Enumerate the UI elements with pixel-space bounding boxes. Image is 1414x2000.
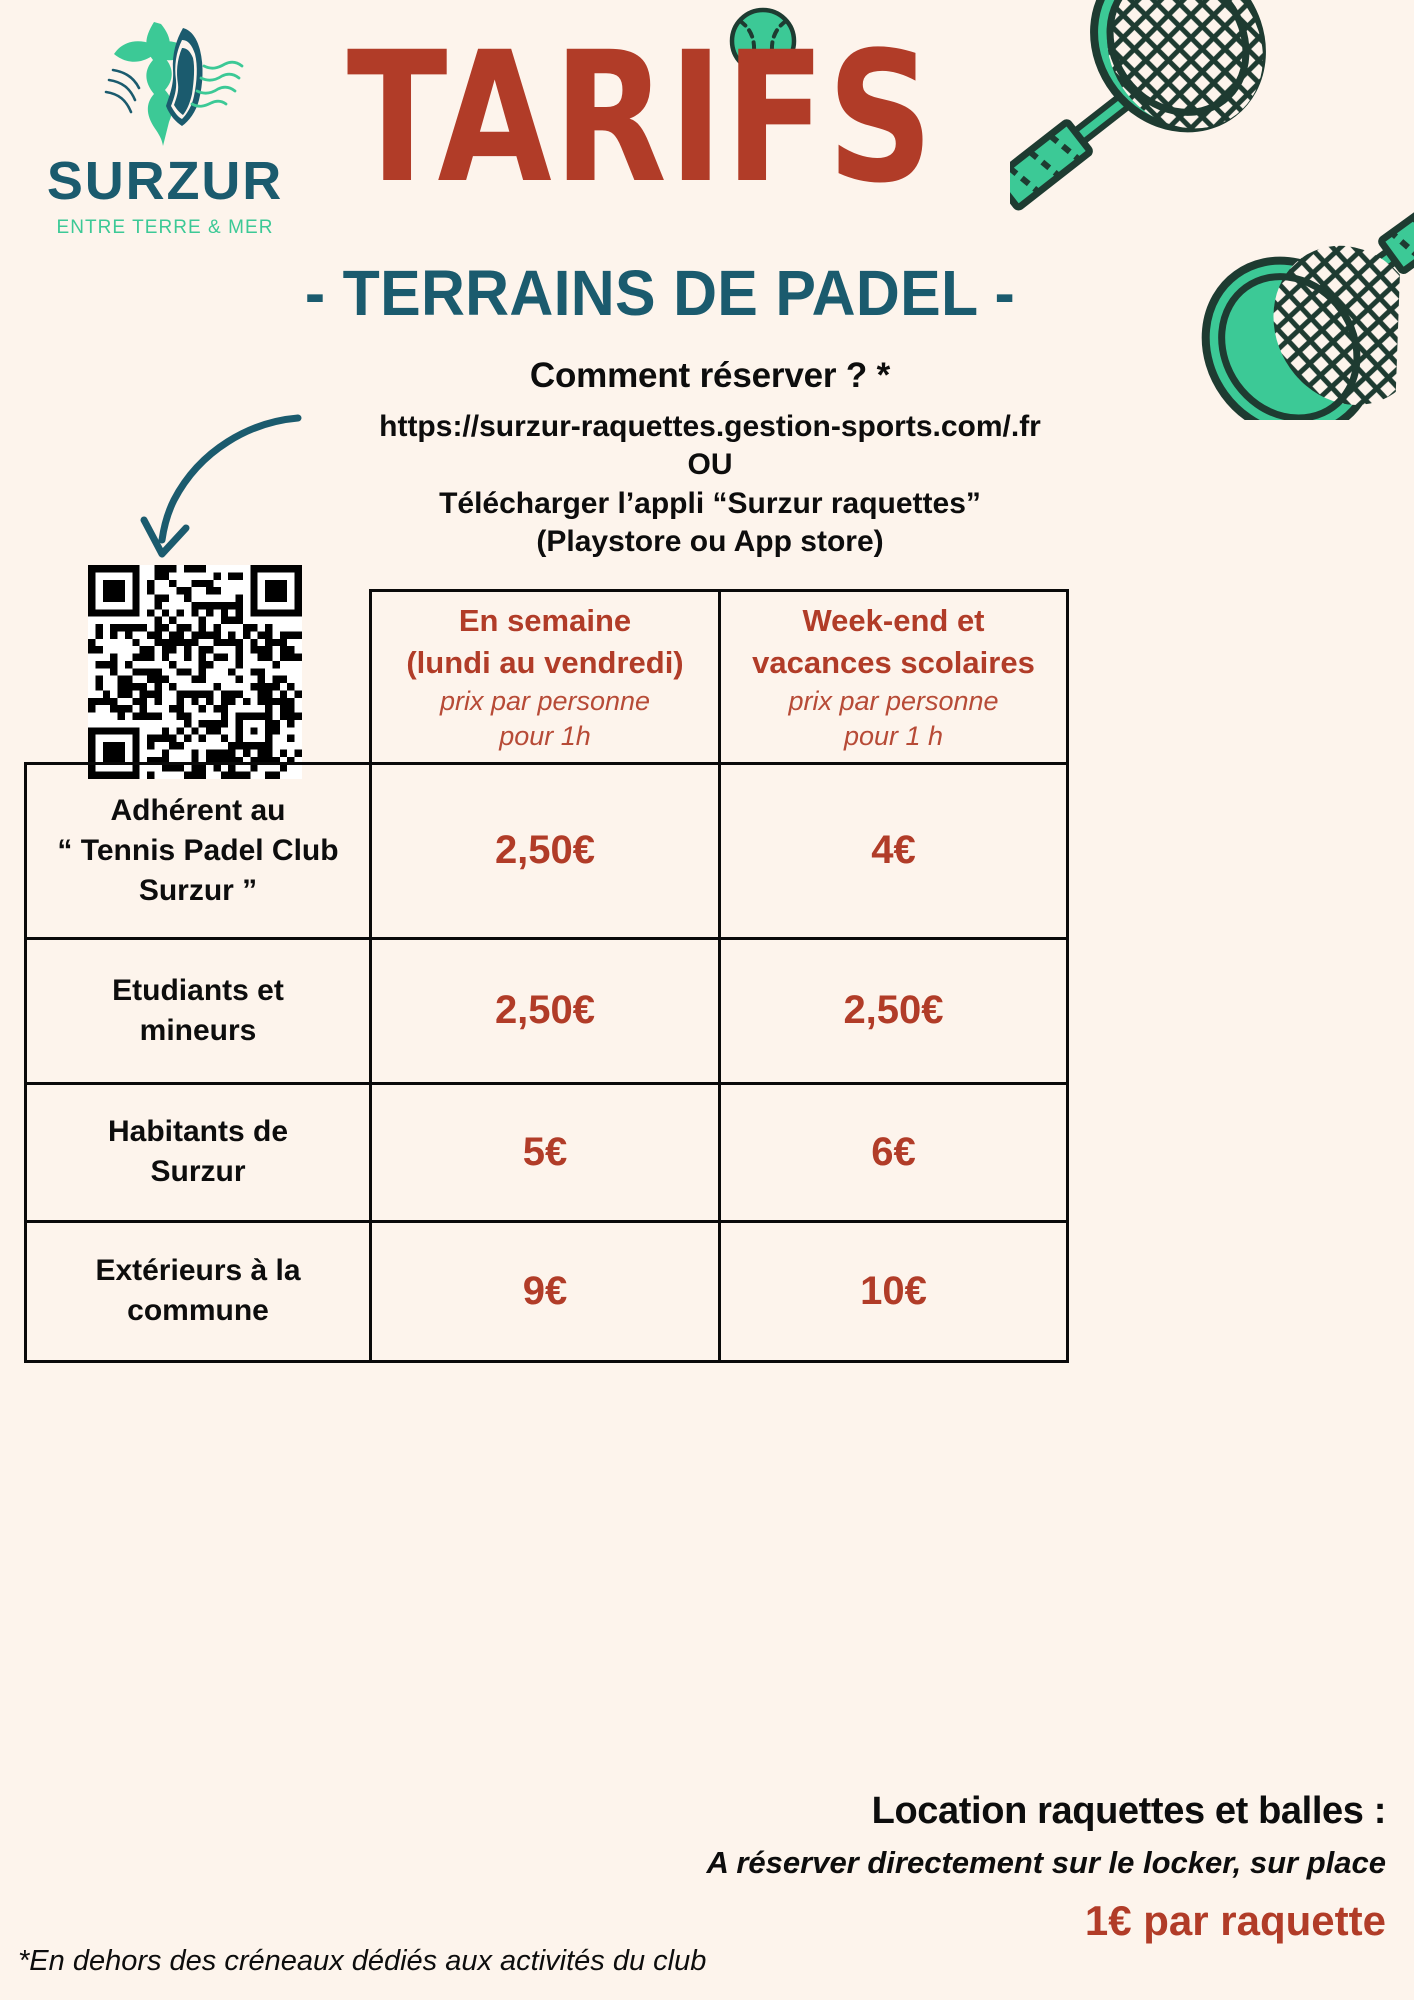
table-row: Habitants de Surzur 5€ 6€: [26, 1083, 1068, 1221]
price-adherent-weekday: 2,50€: [371, 763, 720, 938]
brand-name: SURZUR: [20, 154, 310, 208]
rental-title: Location raquettes et balles :: [386, 1790, 1386, 1833]
rental-price: 1€ par raquette: [386, 1897, 1386, 1945]
brand-tagline: ENTRE TERRE & MER: [20, 217, 310, 239]
header-weekend-sub2: pour 1 h: [731, 719, 1056, 754]
price-etudiants-weekday: 2,50€: [371, 938, 720, 1083]
row-label-adherent: Adhérent au “ Tennis Padel Club Surzur ”: [26, 763, 371, 938]
surzur-island-leaf-logo-icon: [70, 18, 260, 150]
price-adherent-weekend: 4€: [720, 763, 1068, 938]
page-subtitle: - TERRAINS DE PADEL -: [90, 256, 1230, 330]
booking-question: Comment réserver ? *: [180, 356, 1240, 396]
table-header-row: En semaine (lundi au vendredi) prix par …: [26, 591, 1068, 764]
row-label-line2: commune: [37, 1291, 359, 1331]
booking-app-line: Télécharger l’appli “Surzur raquettes”: [180, 485, 1240, 523]
price-table: En semaine (lundi au vendredi) prix par …: [24, 589, 1069, 1363]
header-weekday-line1: En semaine: [382, 600, 708, 642]
row-label-line1: Habitants de: [37, 1112, 359, 1152]
table-row: Etudiants et mineurs 2,50€ 2,50€: [26, 938, 1068, 1083]
row-label-habitants: Habitants de Surzur: [26, 1083, 371, 1221]
row-label-line1: Extérieurs à la: [37, 1251, 359, 1291]
header-weekday-sub1: prix par personne: [382, 684, 708, 719]
header-weekday-line2: (lundi au vendredi): [382, 642, 708, 684]
price-exterieurs-weekday: 9€: [371, 1221, 720, 1361]
table-row: Extérieurs à la commune 9€ 10€: [26, 1221, 1068, 1361]
padel-racket-icon: [1010, 0, 1310, 270]
row-label-line2: mineurs: [37, 1011, 359, 1051]
row-label-line1: Adhérent au: [37, 791, 359, 831]
row-label-line2: “ Tennis Padel Club: [37, 831, 359, 871]
header-weekday-sub2: pour 1h: [382, 719, 708, 754]
table-row: Adhérent au “ Tennis Padel Club Surzur ”…: [26, 763, 1068, 938]
table-corner-cell: [26, 591, 371, 764]
row-label-exterieurs: Extérieurs à la commune: [26, 1221, 371, 1361]
header-weekend-line2: vacances scolaires: [731, 642, 1056, 684]
booking-url[interactable]: https://surzur-raquettes.gestion-sports.…: [180, 408, 1240, 446]
booking-or-separator: OU: [180, 446, 1240, 484]
row-label-line2: Surzur: [37, 1152, 359, 1192]
header-weekend-sub1: prix par personne: [731, 684, 1056, 719]
row-label-line1: Etudiants et: [37, 971, 359, 1011]
disclaimer-text: *En dehors des créneaux dédiés aux activ…: [18, 1945, 706, 1978]
booking-instructions: Comment réserver ? * https://surzur-raqu…: [180, 356, 1240, 562]
rental-subtitle: A réserver directement sur le locker, su…: [386, 1845, 1386, 1881]
table-header-weekday: En semaine (lundi au vendredi) prix par …: [371, 591, 720, 764]
surzur-logo: SURZUR ENTRE TERRE & MER: [20, 18, 310, 239]
price-habitants-weekend: 6€: [720, 1083, 1068, 1221]
booking-stores-line: (Playstore ou App store): [180, 523, 1240, 561]
price-etudiants-weekend: 2,50€: [720, 938, 1068, 1083]
page-title: TARIFS: [347, 36, 773, 202]
rental-info: Location raquettes et balles : A réserve…: [386, 1790, 1386, 1945]
price-habitants-weekday: 5€: [371, 1083, 720, 1221]
price-exterieurs-weekend: 10€: [720, 1221, 1068, 1361]
table-header-weekend: Week-end et vacances scolaires prix par …: [720, 591, 1068, 764]
row-label-line3: Surzur ”: [37, 871, 359, 911]
row-label-etudiants: Etudiants et mineurs: [26, 938, 371, 1083]
header-weekend-line1: Week-end et: [731, 600, 1056, 642]
